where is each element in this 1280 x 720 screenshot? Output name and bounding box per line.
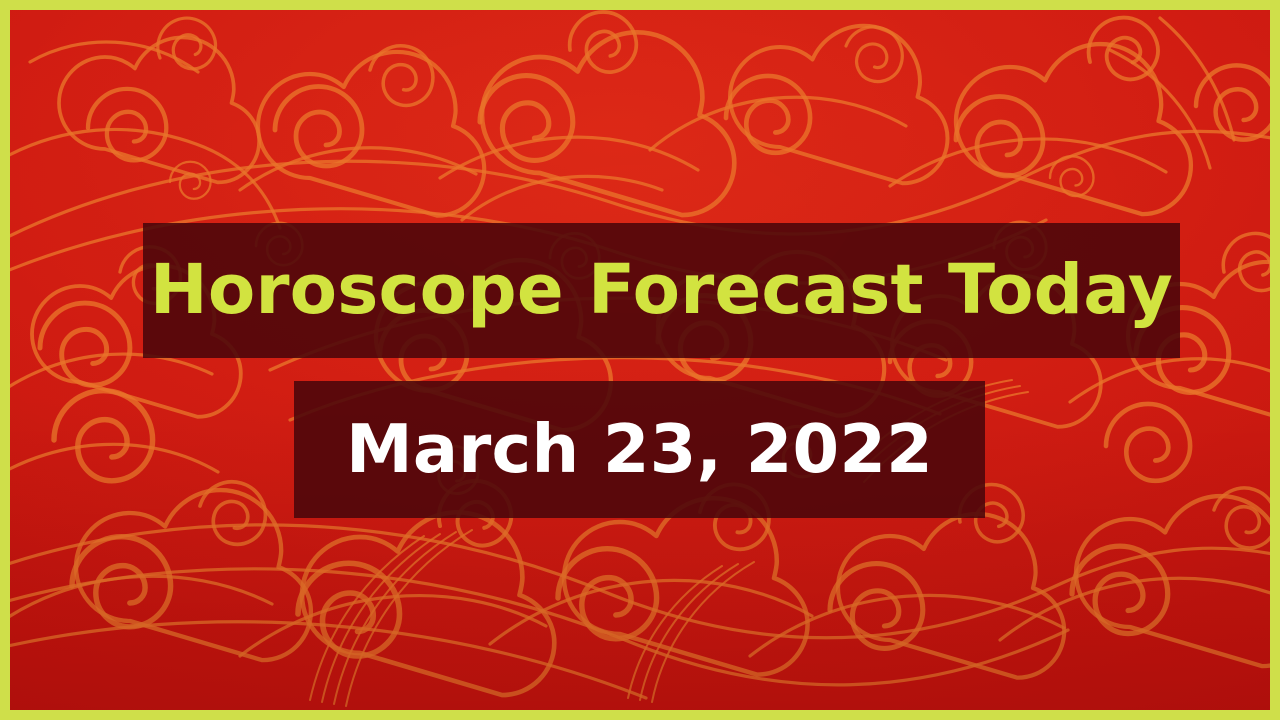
horoscope-poster: Horoscope Forecast Today March 23, 2022 xyxy=(0,0,1280,720)
cloud-swirl-pattern-icon xyxy=(10,10,1270,710)
page-title: Horoscope Forecast Today xyxy=(150,256,1173,325)
poster-date: March 23, 2022 xyxy=(346,416,933,483)
title-band: Horoscope Forecast Today xyxy=(143,223,1180,358)
date-band: March 23, 2022 xyxy=(294,381,985,518)
poster-background: Horoscope Forecast Today March 23, 2022 xyxy=(10,10,1270,710)
